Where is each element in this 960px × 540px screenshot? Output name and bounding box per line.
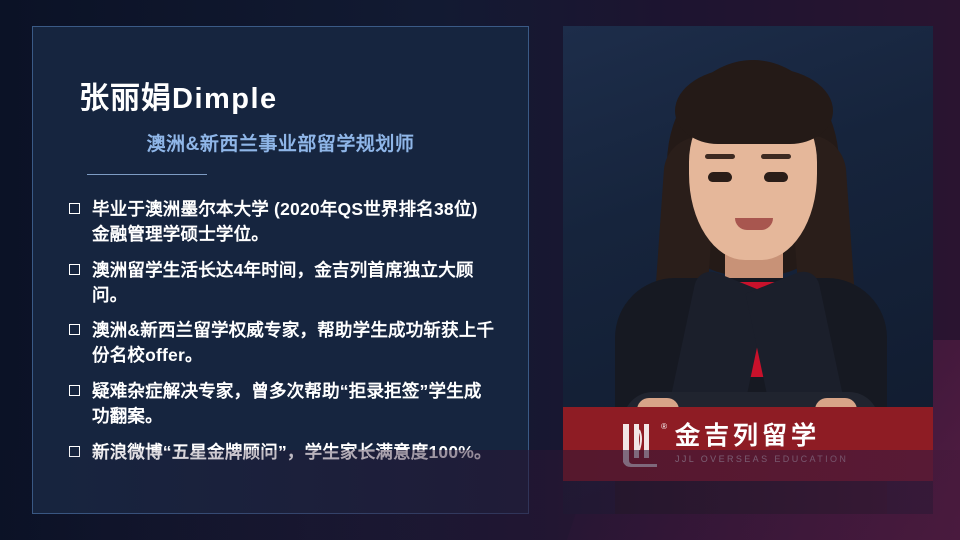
brand-name-cn: 金吉列留学 <box>675 424 848 449</box>
portrait-eyebrow-right <box>761 154 791 159</box>
person-name: 张丽娟Dimple <box>79 73 502 117</box>
square-bullet-icon <box>69 203 80 214</box>
list-item: 毕业于澳洲墨尔本大学 (2020年QS世界排名38位) 金融管理学硕士学位。 <box>69 197 496 247</box>
bullet-text: 澳洲&新西兰留学权威专家，帮助学生成功斩获上千份名校offer。 <box>92 318 496 368</box>
square-bullet-icon <box>69 446 80 457</box>
bullet-text: 新浪微博“五星金牌顾问”，学生家长满意度100%。 <box>92 440 496 465</box>
portrait-eye-right <box>764 172 788 182</box>
portrait-eyebrow-left <box>705 154 735 159</box>
square-bullet-icon <box>69 324 80 335</box>
profile-panel: 张丽娟Dimple 澳洲&新西兰事业部留学规划师 毕业于澳洲墨尔本大学 (202… <box>32 26 529 514</box>
portrait-photo: ® 金吉列留学 JJL OVERSEAS EDUCATION <box>563 26 933 514</box>
brand-logo-bar: ® 金吉列留学 JJL OVERSEAS EDUCATION <box>563 407 933 481</box>
brand-logo-text: 金吉列留学 JJL OVERSEAS EDUCATION <box>675 424 848 464</box>
square-bullet-icon <box>69 385 80 396</box>
person-subtitle: 澳洲&新西兰事业部留学规划师 <box>59 129 502 156</box>
bullet-text: 澳洲留学生活长达4年时间，金吉列首席独立大顾问。 <box>92 258 496 308</box>
bullet-text: 疑难杂症解决专家，曾多次帮助“拒录拒签”学生成功翻案。 <box>92 379 496 429</box>
slide-root: 张丽娟Dimple 澳洲&新西兰事业部留学规划师 毕业于澳洲墨尔本大学 (202… <box>0 0 960 540</box>
bullet-list: 毕业于澳洲墨尔本大学 (2020年QS世界排名38位) 金融管理学硕士学位。 澳… <box>59 197 502 465</box>
list-item: 疑难杂症解决专家，曾多次帮助“拒录拒签”学生成功翻案。 <box>69 379 496 429</box>
person-name-cn: 张丽娟 <box>79 82 172 115</box>
person-name-en: Dimple <box>172 83 278 115</box>
list-item: 澳洲留学生活长达4年时间，金吉列首席独立大顾问。 <box>69 258 496 308</box>
portrait-fringe <box>675 68 833 144</box>
bullet-text: 毕业于澳洲墨尔本大学 (2020年QS世界排名38位) 金融管理学硕士学位。 <box>92 197 496 247</box>
title-divider <box>87 174 207 175</box>
portrait-mouth <box>735 218 773 230</box>
list-item: 澳洲&新西兰留学权威专家，帮助学生成功斩获上千份名校offer。 <box>69 318 496 368</box>
square-bullet-icon <box>69 264 80 275</box>
list-item: 新浪微博“五星金牌顾问”，学生家长满意度100%。 <box>69 440 496 465</box>
profile-panel-inner: 张丽娟Dimple 澳洲&新西兰事业部留学规划师 毕业于澳洲墨尔本大学 (202… <box>33 27 528 513</box>
registered-trademark-icon: ® <box>661 422 667 431</box>
jjl-logo-icon: ® <box>617 420 663 468</box>
brand-name-en: JJL OVERSEAS EDUCATION <box>675 455 848 464</box>
portrait-eye-left <box>708 172 732 182</box>
